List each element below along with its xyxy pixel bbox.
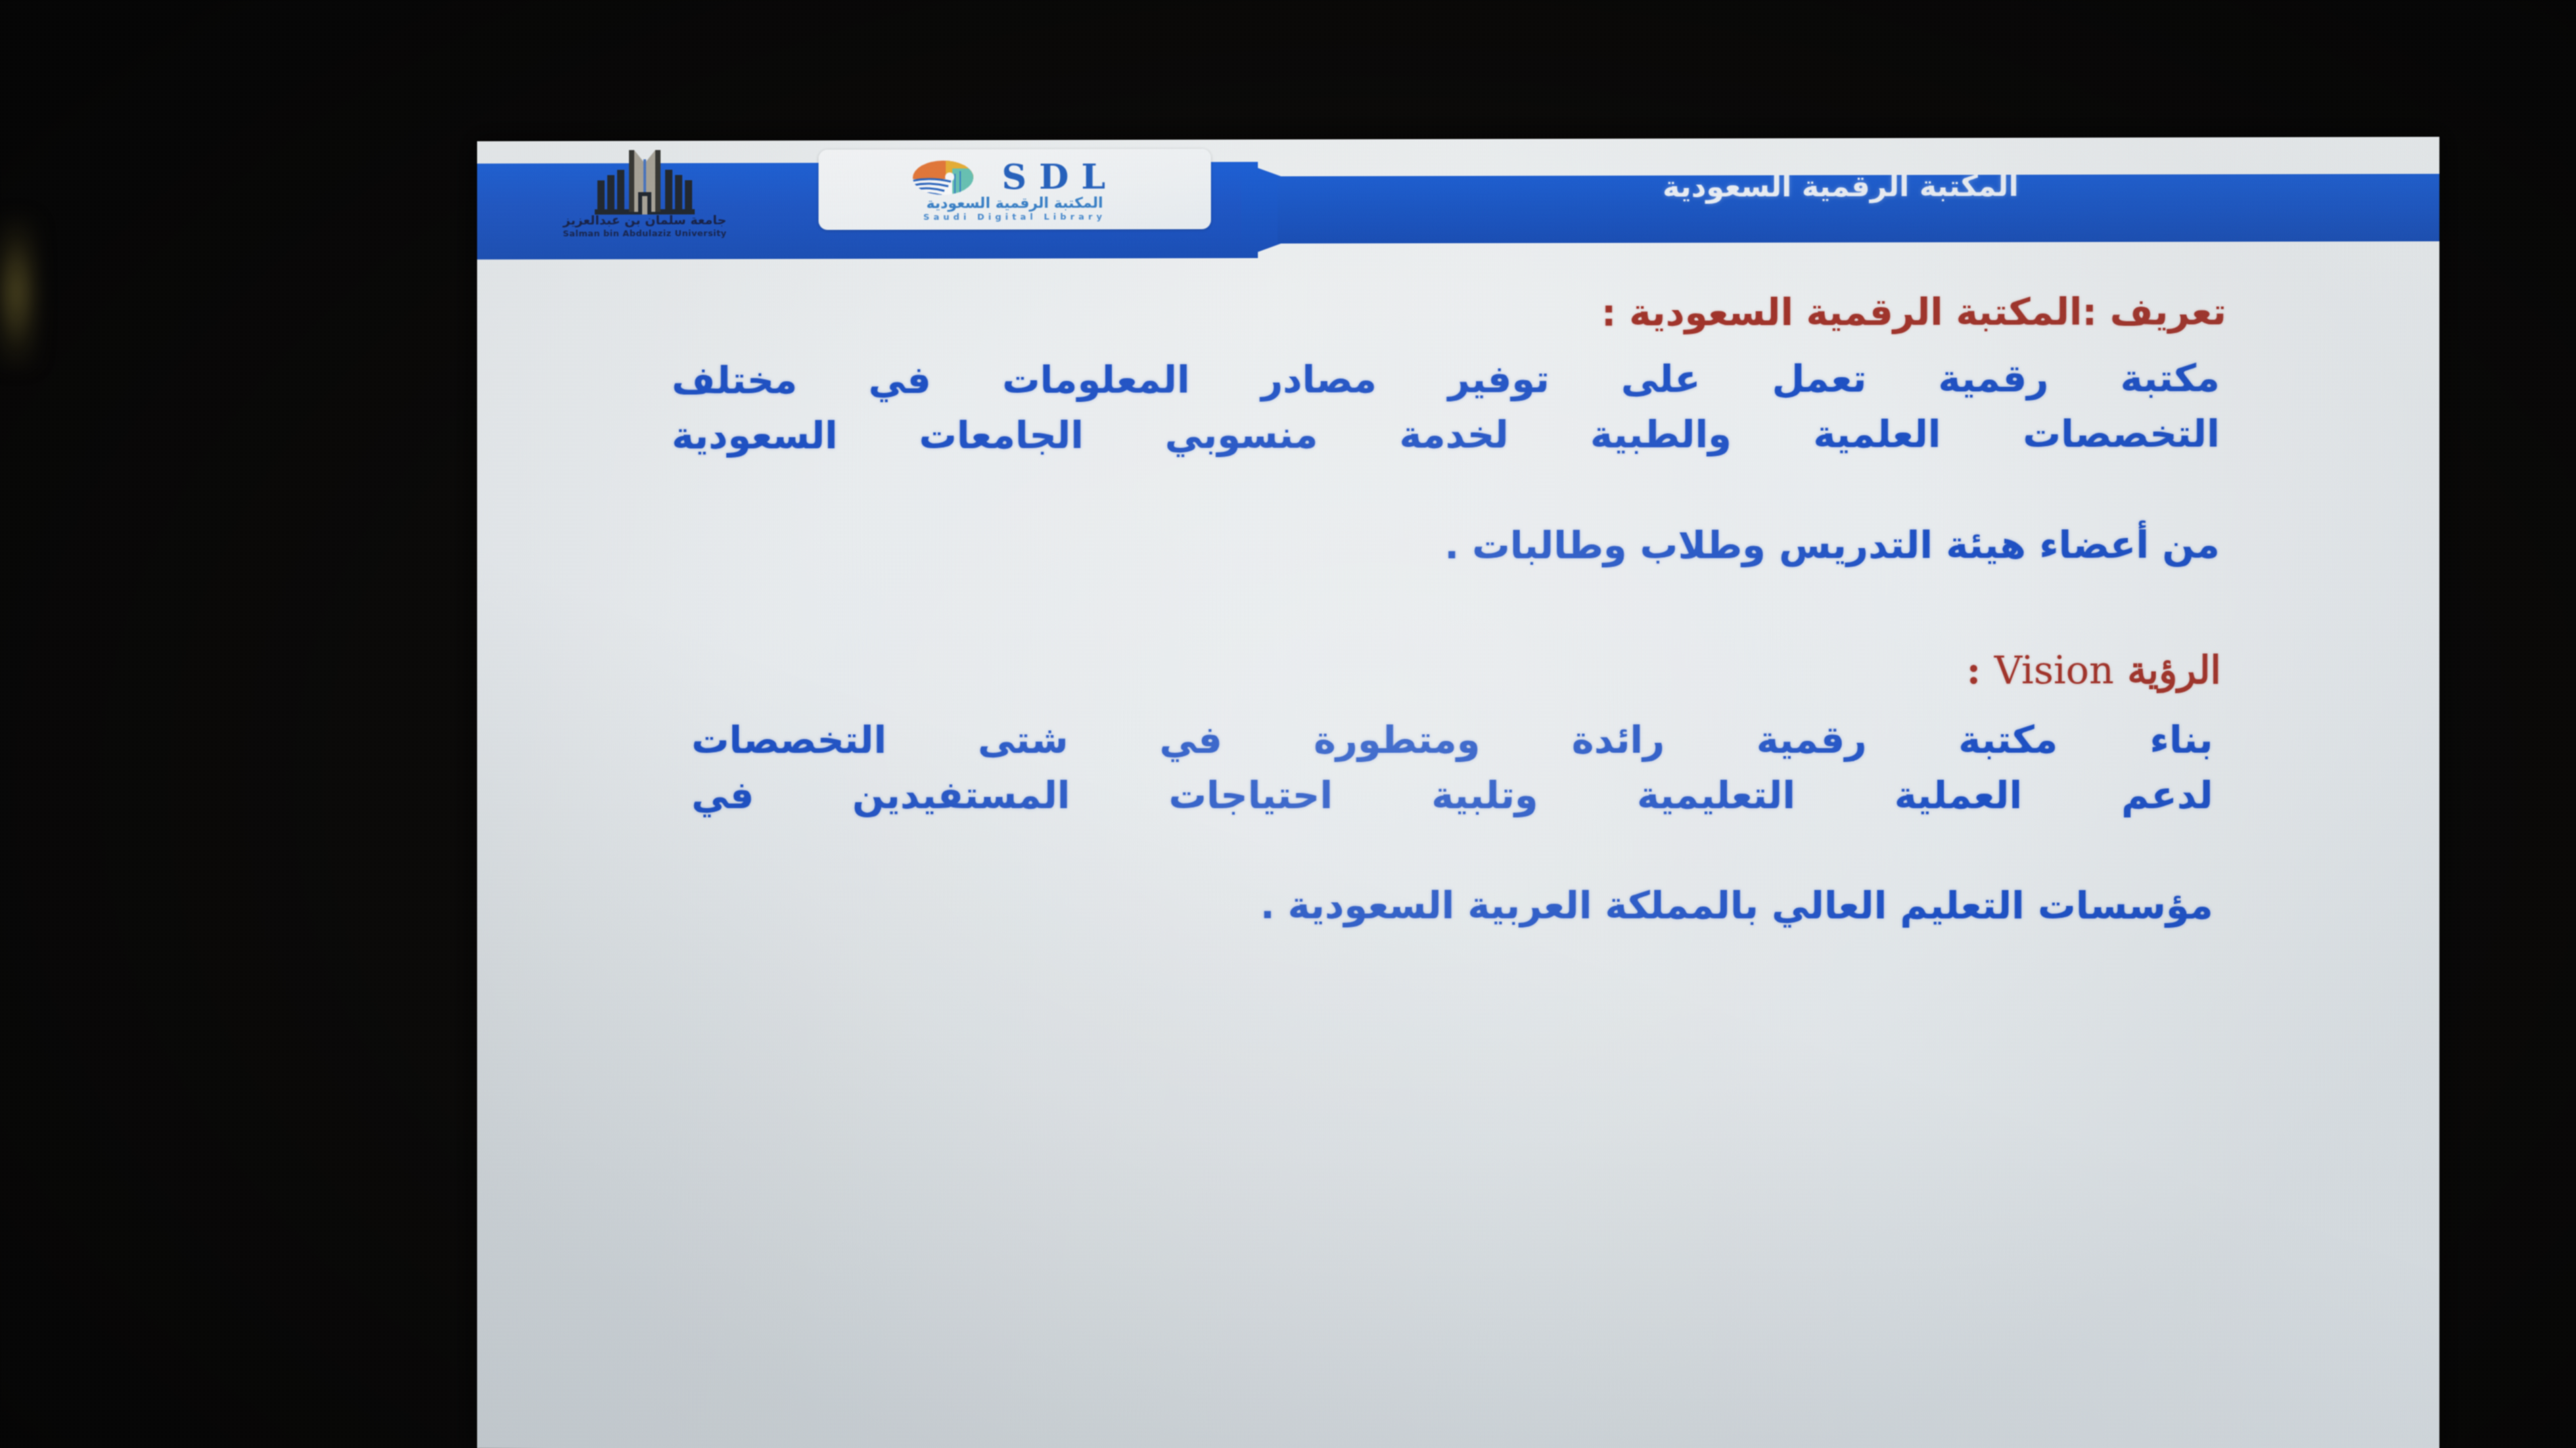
university-name-ar: جامعة سلمان بن عبدالعزيز: [536, 213, 753, 228]
sdl-name-en: Saudi Digital Library: [819, 212, 1211, 223]
photographed-room: جامعة سلمان بن عبدالعزيز Salman bin Abdu…: [0, 0, 2576, 1448]
sdl-name-ar: المكتبة الرقمية السعودية: [819, 195, 1211, 212]
sun-over-water-icon: [911, 159, 975, 196]
vision-paragraph: بناء مكتبة رقمية رائدة ومتطورة في شتى ال…: [691, 712, 2213, 824]
sdl-letters: SDL: [989, 160, 1118, 195]
vision-heading-ar: الرؤية: [2127, 648, 2221, 692]
sdl-logo-top-row: SDL: [819, 160, 1211, 196]
definition-paragraph: مكتبة رقمية تعمل على توفير مصادر المعلوم…: [672, 351, 2220, 464]
slide-body: تعريف :المكتبة الرقمية السعودية : مكتبة …: [477, 267, 2439, 1448]
vision-line-1: بناء مكتبة رقمية رائدة ومتطورة في شتى ال…: [691, 712, 2213, 768]
projection-slide: جامعة سلمان بن عبدالعزيز Salman bin Abdu…: [477, 137, 2439, 1448]
definition-line-2: التخصصات العلمية والطبية لخدمة منسوبي ال…: [672, 407, 2220, 464]
definition-line-1: مكتبة رقمية تعمل على توفير مصادر المعلوم…: [672, 351, 2220, 409]
banner-title: المكتبة الرقمية السعودية: [1277, 151, 2405, 221]
stray-light-glow: [0, 217, 39, 368]
vision-heading-colon: :: [1967, 648, 1981, 692]
university-name-en: Salman bin Abdulaziz University: [536, 229, 753, 239]
vision-line-3: مؤسسات التعليم العالي بالمملكة العربية ا…: [1260, 884, 2213, 928]
sdl-logo-card: SDL المكتبة الرقمية السعودية Saudi Digit…: [819, 148, 1211, 229]
definition-line-3: من أعضاء هيئة التدريس وطلاب وطالبات .: [1444, 524, 2220, 568]
vision-line-2: لدعم العملية التعليمية وتلبية احتياجات ا…: [691, 768, 2213, 824]
definition-heading: تعريف :المكتبة الرقمية السعودية :: [1601, 290, 2226, 334]
tower-building-icon: [586, 146, 704, 214]
vision-heading: الرؤية Vision :: [1967, 648, 2221, 693]
vision-heading-en: Vision: [1994, 648, 2114, 692]
banner-step-connector: [1241, 162, 1281, 258]
university-logo: جامعة سلمان بن عبدالعزيز Salman bin Abdu…: [536, 145, 753, 244]
